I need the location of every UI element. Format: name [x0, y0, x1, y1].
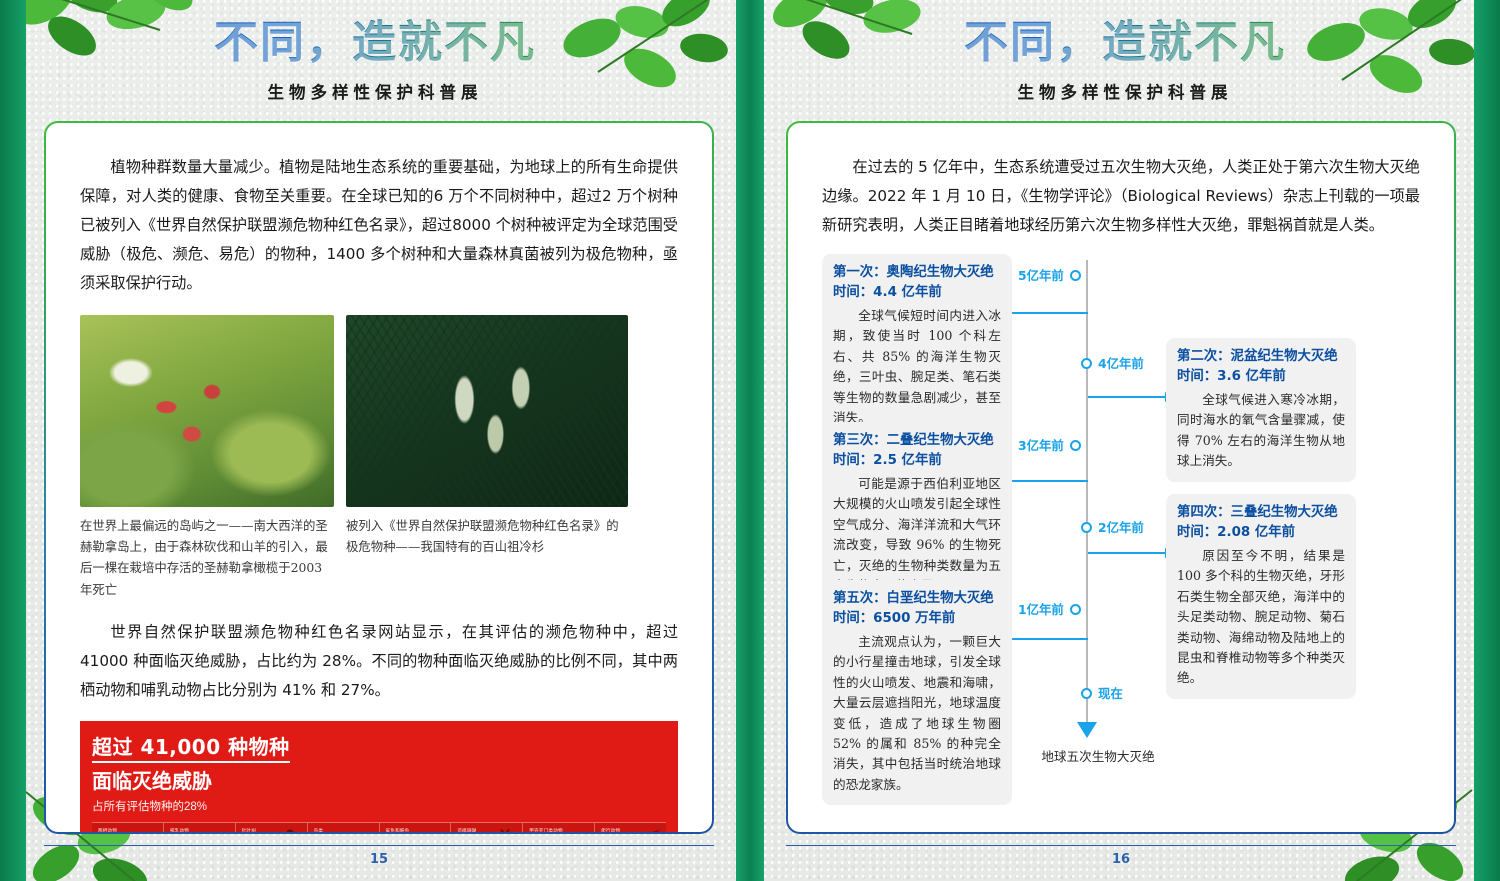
- conifer-cones-photo: [346, 315, 628, 507]
- timeline-card-2: 第二次：泥盆纪生物大灭绝 时间：3.6 亿年前 全球气候进入寒冷冰期，同时海水的…: [1166, 338, 1356, 481]
- content-panel-right: 在过去的 5 亿年中，生态系统遭受过五次生物大灭绝，人类正处于第六次生物大灭绝边…: [786, 121, 1456, 834]
- cell-label: 爬行动物: [601, 829, 627, 834]
- photo-caption-2: 被列入《世界自然保护联盟濒危物种红色名录》的极危物种——我国特有的百山祖冷杉: [346, 515, 628, 600]
- page-number-left: 15: [44, 845, 714, 867]
- infographic-cell: 两栖动物 41%: [92, 823, 164, 833]
- flowering-plant-photo: [80, 315, 334, 507]
- timeline-tick: 2亿年前: [1081, 518, 1144, 536]
- threatened-species-infographic: 超过 41,000 种物种 面临灭绝威胁 占所有评估物种的28% 两栖动物 41…: [80, 721, 678, 833]
- cell-label: 甲壳亚门类动物: [529, 829, 563, 834]
- timeline-connector: [1008, 312, 1088, 314]
- page-left: 不同，造就不凡 生物多样性保护科普展 植物种群数量大量减少。植物是陆地生态系统的…: [0, 0, 750, 881]
- mammal-icon: [205, 828, 231, 833]
- card-title-line2: 时间：4.4 亿年前: [833, 285, 942, 300]
- main-title: 不同，造就不凡: [0, 18, 750, 69]
- page-header-right: 不同，造就不凡 生物多样性保护科普展: [750, 0, 1500, 103]
- conifer-cone-icon: [277, 828, 303, 833]
- infographic-cell: 造礁珊瑚 33%: [451, 823, 523, 833]
- sub-title: 生物多样性保护科普展: [0, 79, 750, 103]
- page-number-right: 16: [786, 845, 1456, 867]
- cell-label: 鲨鱼和鳐鱼: [386, 829, 412, 834]
- frog-icon: [133, 828, 159, 833]
- card-title: 第五次：白垩纪生物大灭绝 时间：6500 万年前: [833, 589, 1001, 628]
- timeline-connector: [1088, 396, 1166, 398]
- infographic-headline-2: 面临灭绝威胁: [92, 765, 666, 794]
- spread-container: 不同，造就不凡 生物多样性保护科普展 植物种群数量大量减少。植物是陆地生态系统的…: [0, 0, 1500, 881]
- infographic-cell: 鲨鱼和鳐鱼 37%: [380, 823, 452, 833]
- card-title-line2: 时间：2.5 亿年前: [833, 453, 942, 468]
- reptile-icon: [636, 828, 662, 833]
- tick-label: 2亿年前: [1098, 518, 1144, 536]
- tick-label: 4亿年前: [1098, 354, 1144, 372]
- timeline-arrow-head-icon: [1077, 722, 1097, 738]
- timeline-tick: 1亿年前: [1018, 600, 1081, 618]
- card-title-line1: 第三次：二叠纪生物大灭绝: [833, 433, 994, 448]
- card-body: 原因至今不明，结果是100 多个科的生物灭绝，牙形石类生物全部灭绝，海洋中的头足…: [1177, 546, 1345, 689]
- timeline-card-4: 第四次：三叠纪生物大灭绝 时间：2.08 亿年前 原因至今不明，结果是100 多…: [1166, 494, 1356, 699]
- tick-dot-icon: [1070, 270, 1081, 281]
- page-edge-left: [0, 0, 26, 881]
- paragraph-plants: 植物种群数量大量减少。植物是陆地生态系统的重要基础，为地球上的所有生命提供保障，…: [80, 153, 678, 299]
- page-header-left: 不同，造就不凡 生物多样性保护科普展: [0, 0, 750, 103]
- timeline-tick: 5亿年前: [1018, 266, 1081, 284]
- bird-icon: [349, 828, 375, 833]
- cell-label: 鸟类: [314, 829, 340, 834]
- card-title-line1: 第四次：三叠纪生物大灭绝: [1177, 505, 1338, 520]
- infographic-cell: 鸟类 13%: [308, 823, 380, 833]
- page-spine-left: [736, 0, 750, 881]
- tick-dot-icon: [1081, 358, 1092, 369]
- extinction-timeline: 5亿年前 4亿年前 3亿年前 2亿年前 1亿年前: [822, 254, 1420, 770]
- timeline-axis: [1086, 260, 1088, 726]
- timeline-connector: [1008, 638, 1088, 640]
- photo-caption-1: 在世界上最偏远的岛屿之一——南大西洋的圣赫勒拿岛上，由于森林砍伐和山羊的引入，最…: [80, 515, 334, 600]
- content-panel-left: 植物种群数量大量减少。植物是陆地生态系统的重要基础，为地球上的所有生命提供保障，…: [44, 121, 714, 834]
- cell-label: 造礁珊瑚: [457, 829, 483, 834]
- cell-label: 两栖动物: [98, 829, 124, 834]
- card-body: 可能是源于西伯利亚地区大规模的火山喷发引起全球性空气成分、海洋洋流和大气环流改变…: [833, 474, 1001, 596]
- card-title-line2: 时间：2.08 亿年前: [1177, 525, 1295, 540]
- card-title: 第二次：泥盆纪生物大灭绝 时间：3.6 亿年前: [1177, 347, 1345, 386]
- timeline-connector: [1088, 552, 1166, 554]
- tick-label: 1亿年前: [1018, 600, 1064, 618]
- crustacean-icon: [564, 828, 590, 833]
- card-title: 第三次：二叠纪生物大灭绝 时间：2.5 亿年前: [833, 431, 1001, 470]
- paragraph-iucn: 世界自然保护联盟濒危物种红色名录网站显示，在其评估的濒危物种中，超过 41000…: [80, 618, 678, 706]
- tick-label: 现在: [1098, 684, 1123, 702]
- infographic-cell: 甲壳亚门类动物 28%: [523, 823, 595, 833]
- page-right: 不同，造就不凡 生物多样性保护科普展 在过去的 5 亿年中，生态系统遭受过五次生…: [750, 0, 1500, 881]
- card-body: 全球气候短时间内进入冰期，致使当时 100 个科左右、共 85% 的海洋生物灭绝…: [833, 306, 1001, 428]
- tick-dot-icon: [1081, 522, 1092, 533]
- card-title-line2: 时间：6500 万年前: [833, 611, 955, 626]
- tick-dot-icon: [1070, 604, 1081, 615]
- card-title-line1: 第五次：白垩纪生物大灭绝: [833, 591, 994, 606]
- card-body: 全球气候进入寒冷冰期，同时海水的氧气含量骤减，使得 70% 左右的海洋生物从地球…: [1177, 390, 1345, 472]
- tick-dot-icon: [1081, 688, 1092, 699]
- timeline-card-3: 第三次：二叠纪生物大灭绝 时间：2.5 亿年前 可能是源于西伯利亚地区大规模的火…: [822, 422, 1012, 606]
- tick-label: 3亿年前: [1018, 436, 1064, 454]
- card-title-line1: 第一次：奥陶纪生物大灭绝: [833, 265, 994, 280]
- photo-row: [80, 315, 678, 507]
- timeline-tick: 4亿年前: [1081, 354, 1144, 372]
- timeline-caption: 地球五次生物大灭绝: [1008, 746, 1188, 765]
- timeline-connector: [1008, 480, 1088, 482]
- timeline-card-1: 第一次：奥陶纪生物大灭绝 时间：4.4 亿年前 全球气候短时间内进入冰期，致使当…: [822, 254, 1012, 438]
- page-edge-right: [1474, 0, 1500, 881]
- infographic-headline-1: 超过 41,000 种物种: [92, 731, 290, 763]
- infographic-subhead: 占所有评估物种的28%: [92, 798, 666, 814]
- coral-icon: [492, 828, 518, 833]
- shark-icon: [420, 828, 446, 833]
- sub-title: 生物多样性保护科普展: [750, 79, 1500, 103]
- card-title-line2: 时间：3.6 亿年前: [1177, 369, 1286, 384]
- tick-label: 5亿年前: [1018, 266, 1064, 284]
- card-title: 第四次：三叠纪生物大灭绝 时间：2.08 亿年前: [1177, 503, 1345, 542]
- timeline-card-5: 第五次：白垩纪生物大灭绝 时间：6500 万年前 主流观点认为，一颗巨大的小行星…: [822, 580, 1012, 805]
- infographic-cell: 针叶树 34%: [236, 823, 308, 833]
- paragraph-mass-extinctions: 在过去的 5 亿年中，生态系统遭受过五次生物大灭绝，人类正处于第六次生物大灭绝边…: [822, 153, 1420, 241]
- infographic-cell: 哺乳动物 27%: [164, 823, 236, 833]
- timeline-tick: 3亿年前: [1018, 436, 1081, 454]
- infographic-cell: 爬行动物 21%: [595, 823, 666, 833]
- main-title: 不同，造就不凡: [750, 18, 1500, 69]
- card-title: 第一次：奥陶纪生物大灭绝 时间：4.4 亿年前: [833, 263, 1001, 302]
- cell-label: 针叶树: [242, 829, 268, 834]
- page-spine-right: [750, 0, 764, 881]
- timeline-tick: 现在: [1081, 684, 1123, 702]
- tick-dot-icon: [1070, 440, 1081, 451]
- caption-row: 在世界上最偏远的岛屿之一——南大西洋的圣赫勒拿岛上，由于森林砍伐和山羊的引入，最…: [80, 507, 678, 600]
- infographic-cell-grid: 两栖动物 41% 哺乳动物 27% 针叶树 34%: [92, 822, 666, 833]
- cell-label: 哺乳动物: [170, 829, 196, 834]
- card-body: 主流观点认为，一颗巨大的小行星撞击地球，引发全球性的火山喷发、地震和海啸，大量云…: [833, 632, 1001, 795]
- card-title-line1: 第二次：泥盆纪生物大灭绝: [1177, 349, 1338, 364]
